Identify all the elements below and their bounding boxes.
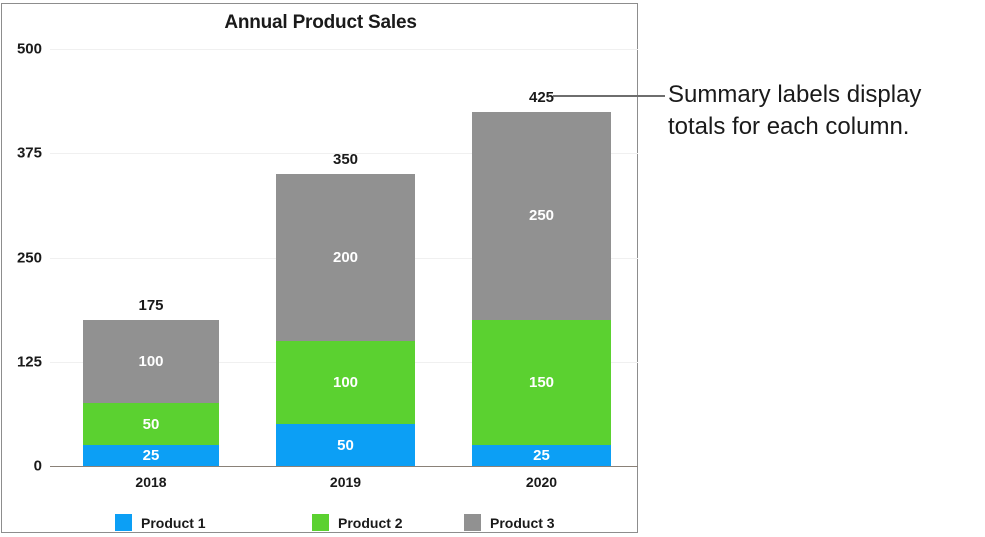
bar-segment-value-label: 150 xyxy=(529,375,554,390)
legend-item[interactable]: Product 2 xyxy=(312,514,403,531)
legend-label: Product 2 xyxy=(338,515,403,531)
legend-item[interactable]: Product 3 xyxy=(464,514,555,531)
callout-text: Summary labels displaytotals for each co… xyxy=(668,79,980,143)
legend-color-swatch xyxy=(464,514,481,531)
bar-segment[interactable]: 25 xyxy=(83,445,219,466)
bar-segment-value-label: 250 xyxy=(529,208,554,223)
legend-color-swatch xyxy=(115,514,132,531)
bar-segment-value-label: 100 xyxy=(138,354,163,369)
y-axis-tick-label: 500 xyxy=(2,41,42,58)
bar-segment-value-label: 200 xyxy=(333,250,358,265)
gridline xyxy=(50,49,638,50)
bar-stack[interactable]: 25150250425 xyxy=(472,112,611,466)
bar-segment[interactable]: 200 xyxy=(276,174,415,341)
bar-segment[interactable]: 25 xyxy=(472,445,611,466)
y-axis-tick-label: 375 xyxy=(2,145,42,162)
y-axis-tick-label: 125 xyxy=(2,353,42,370)
bar-stack[interactable]: 2550100175 xyxy=(83,320,219,466)
bar-total-label: 175 xyxy=(83,297,219,314)
bar-segment[interactable]: 50 xyxy=(83,403,219,445)
legend-label: Product 3 xyxy=(490,515,555,531)
x-axis-tick-label: 2018 xyxy=(83,474,219,490)
chart-container[interactable]: Annual Product Sales 0125250375500255010… xyxy=(1,3,638,533)
chart-legend[interactable]: Product 1Product 2Product 3 xyxy=(2,514,639,536)
bar-segment-value-label: 50 xyxy=(143,417,160,432)
plot-area[interactable]: 0125250375500255010017520185010020035020… xyxy=(2,4,639,534)
legend-color-swatch xyxy=(312,514,329,531)
callout-leader-line xyxy=(553,95,665,97)
bar-segment[interactable]: 50 xyxy=(276,424,415,466)
bar-segment[interactable]: 250 xyxy=(472,112,611,321)
bar-total-label: 425 xyxy=(472,89,611,106)
callout-text-line: Summary labels display xyxy=(668,79,980,111)
x-axis-tick-label: 2019 xyxy=(276,474,415,490)
bar-stack[interactable]: 50100200350 xyxy=(276,174,415,466)
bar-segment-value-label: 25 xyxy=(533,448,550,463)
axis-baseline xyxy=(50,466,638,467)
bar-total-label: 350 xyxy=(276,151,415,168)
legend-label: Product 1 xyxy=(141,515,206,531)
bar-segment-value-label: 50 xyxy=(337,438,354,453)
y-axis-tick-label: 250 xyxy=(2,249,42,266)
bar-segment[interactable]: 100 xyxy=(83,320,219,403)
bar-segment[interactable]: 150 xyxy=(472,320,611,445)
y-axis-tick-label: 0 xyxy=(2,458,42,475)
bar-segment[interactable]: 100 xyxy=(276,341,415,424)
screenshot-root: Annual Product Sales 0125250375500255010… xyxy=(0,0,985,537)
legend-item[interactable]: Product 1 xyxy=(115,514,206,531)
x-axis-tick-label: 2020 xyxy=(472,474,611,490)
bar-segment-value-label: 100 xyxy=(333,375,358,390)
callout-text-line: totals for each column. xyxy=(668,111,980,143)
bar-segment-value-label: 25 xyxy=(143,448,160,463)
